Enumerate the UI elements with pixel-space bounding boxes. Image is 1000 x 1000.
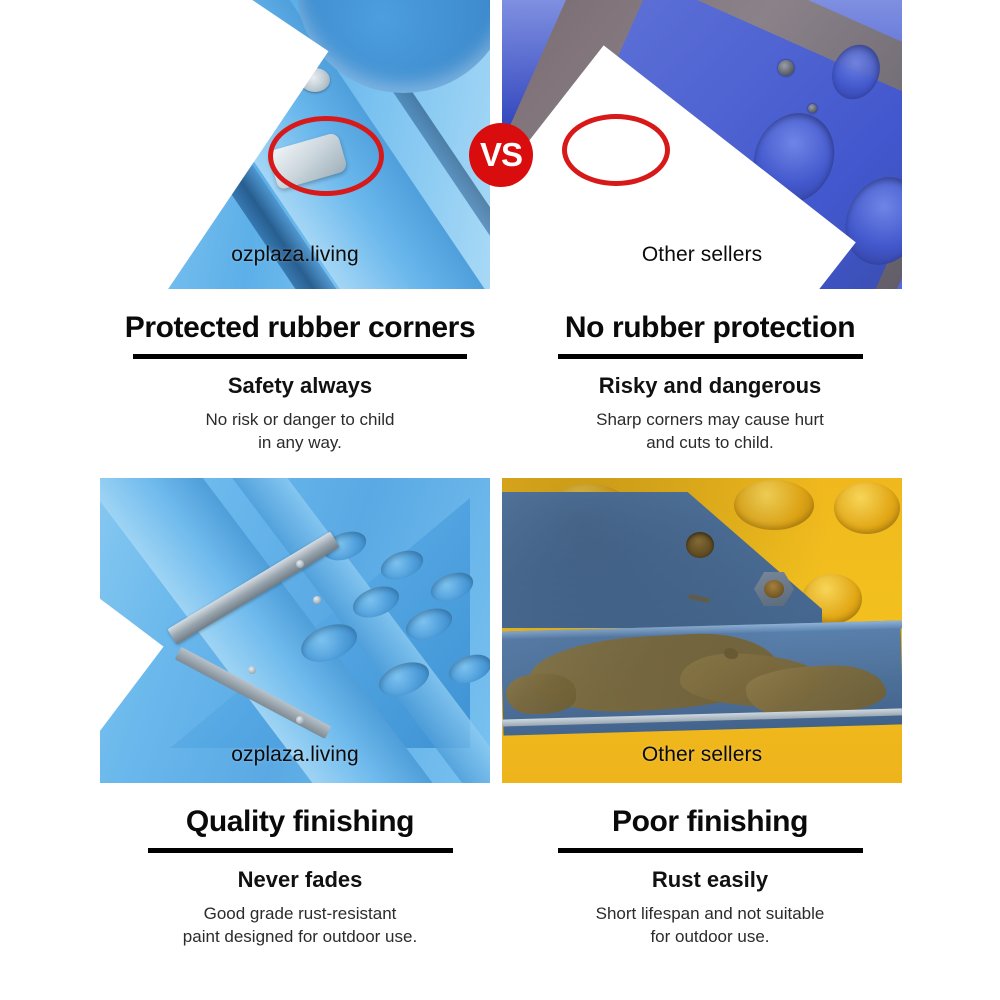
media-row-bottom: ozplaza.living — [0, 478, 1000, 783]
body-line-1: Short lifespan and not suitable — [450, 903, 970, 926]
divider-rule — [558, 354, 863, 359]
photo-detail-rivet — [296, 716, 304, 724]
photo-panel-other-sellers-corner: Other sellers — [502, 0, 902, 289]
product-photo-quality-finish: ozplaza.living — [100, 478, 490, 783]
media-row-top: ozplaza.living — [0, 0, 1000, 289]
photo-caption-brand: ozplaza.living — [100, 243, 490, 267]
photo-panel-ozplaza-finishing: ozplaza.living — [100, 478, 490, 783]
vs-badge-top: VS — [469, 123, 533, 187]
divider-rule — [558, 848, 863, 853]
photo-detail-rivet — [313, 596, 321, 604]
divider-rule — [148, 848, 453, 853]
text-column-other-sellers-corner: No rubber protection Risky and dangerous… — [450, 289, 970, 455]
headline-poor-finishing: Poor finishing — [450, 805, 970, 838]
body-text-block: Short lifespan and not suitable for outd… — [450, 903, 970, 949]
comparison-block-finishing-quality: ozplaza.living — [0, 478, 1000, 1000]
photo-detail-bolt-2 — [778, 60, 794, 76]
photo-caption-competitor: Other sellers — [502, 743, 902, 767]
comparison-block-corner-protection: ozplaza.living — [0, 0, 1000, 478]
divider-rule — [133, 354, 467, 359]
product-photo-unprotected-corner: Other sellers — [502, 0, 902, 289]
subhead-rust-easily: Rust easily — [450, 867, 970, 893]
comparison-infographic: ozplaza.living — [0, 0, 1000, 1000]
body-text-block: Sharp corners may cause hurt and cuts to… — [450, 409, 970, 455]
text-row-top: Protected rubber corners Safety always N… — [0, 289, 1000, 478]
photo-detail-shadow-overlay — [502, 478, 902, 783]
body-line-2: and cuts to child. — [450, 432, 970, 455]
photo-detail-rivet — [248, 666, 256, 674]
text-column-other-sellers-finishing: Poor finishing Rust easily Short lifespa… — [450, 783, 970, 949]
body-line-2: for outdoor use. — [450, 926, 970, 949]
subhead-risky-and-dangerous: Risky and dangerous — [450, 373, 970, 399]
photo-caption-competitor: Other sellers — [502, 243, 902, 267]
photo-detail-bolt-3 — [808, 104, 817, 113]
product-photo-protected-corner: ozplaza.living — [100, 0, 490, 289]
text-row-bottom: Quality finishing Never fades Good grade… — [0, 783, 1000, 1000]
headline-no-rubber-protection: No rubber protection — [450, 311, 970, 344]
body-line-1: Sharp corners may cause hurt — [450, 409, 970, 432]
product-photo-rusted-finish: Other sellers — [502, 478, 902, 783]
photo-panel-ozplaza-corner: ozplaza.living — [100, 0, 490, 289]
photo-caption-brand: ozplaza.living — [100, 743, 490, 767]
photo-detail-rivet — [296, 560, 304, 568]
photo-panel-other-sellers-finishing: Other sellers — [502, 478, 902, 783]
